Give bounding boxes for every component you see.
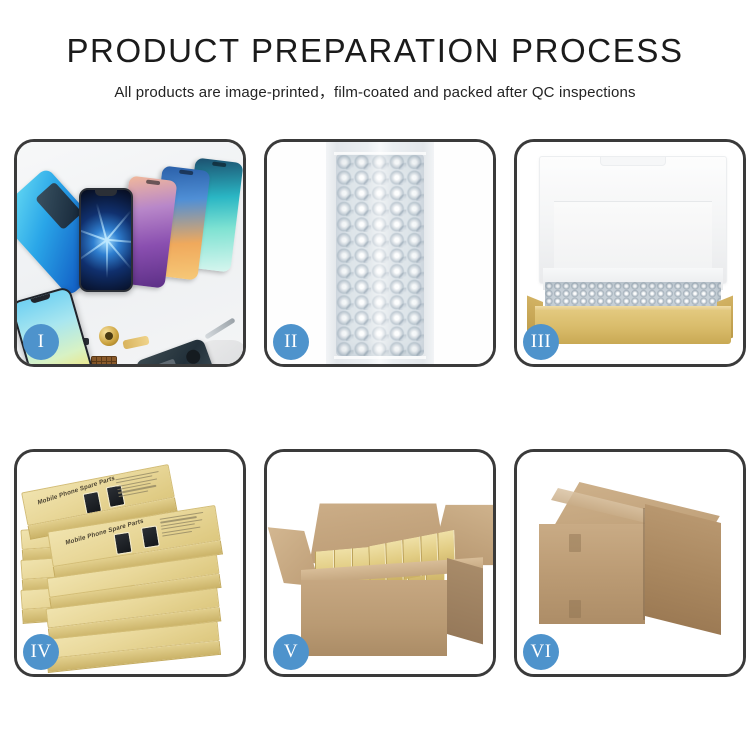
box-spec-lines	[160, 512, 207, 539]
page-subtitle: All products are image-printed，film-coat…	[0, 81, 750, 102]
step-badge-4: IV	[23, 634, 59, 670]
product-preparation-infographic: PRODUCT PREPARATION PROCESS All products…	[0, 0, 750, 750]
step-badge-5: V	[273, 634, 309, 670]
step-panel-2[interactable]: II	[264, 139, 496, 367]
carton-corner-edge	[643, 508, 645, 620]
carton-front-panel-icon	[301, 580, 447, 656]
process-steps-grid: I II	[14, 139, 736, 677]
carton-side-panel	[447, 558, 483, 644]
step-badge-1: I	[23, 324, 59, 360]
kraft-box-front-icon	[535, 310, 731, 344]
bubble-wrap-bag-icon	[326, 142, 434, 364]
phone-front-glass-icon	[79, 188, 133, 292]
box-label: Mobile Phone Spare Parts	[37, 475, 116, 507]
box-screen-image	[83, 490, 103, 514]
step-panel-4[interactable]: Mobile Phone Spare Parts Mobil	[14, 449, 246, 677]
carton-seam-mark	[569, 600, 581, 618]
lid-tab	[600, 156, 666, 166]
box-lid-icon	[539, 156, 727, 284]
header: PRODUCT PREPARATION PROCESS All products…	[0, 0, 750, 102]
step-panel-3[interactable]: III	[514, 139, 746, 367]
page-title: PRODUCT PREPARATION PROCESS	[0, 34, 750, 69]
box-screen-image	[113, 532, 132, 555]
carton-front-face	[539, 524, 645, 624]
step-badge-3: III	[523, 324, 559, 360]
step-panel-6[interactable]: VI	[514, 449, 746, 677]
step-panel-1[interactable]: I	[14, 139, 246, 367]
box-screen-image	[141, 525, 160, 548]
carton-seam-mark	[569, 534, 581, 552]
plastic-gloss	[367, 142, 393, 364]
chip-board-part-icon	[91, 356, 117, 364]
step-panel-5[interactable]: V	[264, 449, 496, 677]
coil-part-icon	[99, 326, 119, 346]
carton-right-face	[645, 504, 721, 635]
step-badge-2: II	[273, 324, 309, 360]
step-badge-6: VI	[523, 634, 559, 670]
box-spec-lines	[115, 471, 162, 499]
